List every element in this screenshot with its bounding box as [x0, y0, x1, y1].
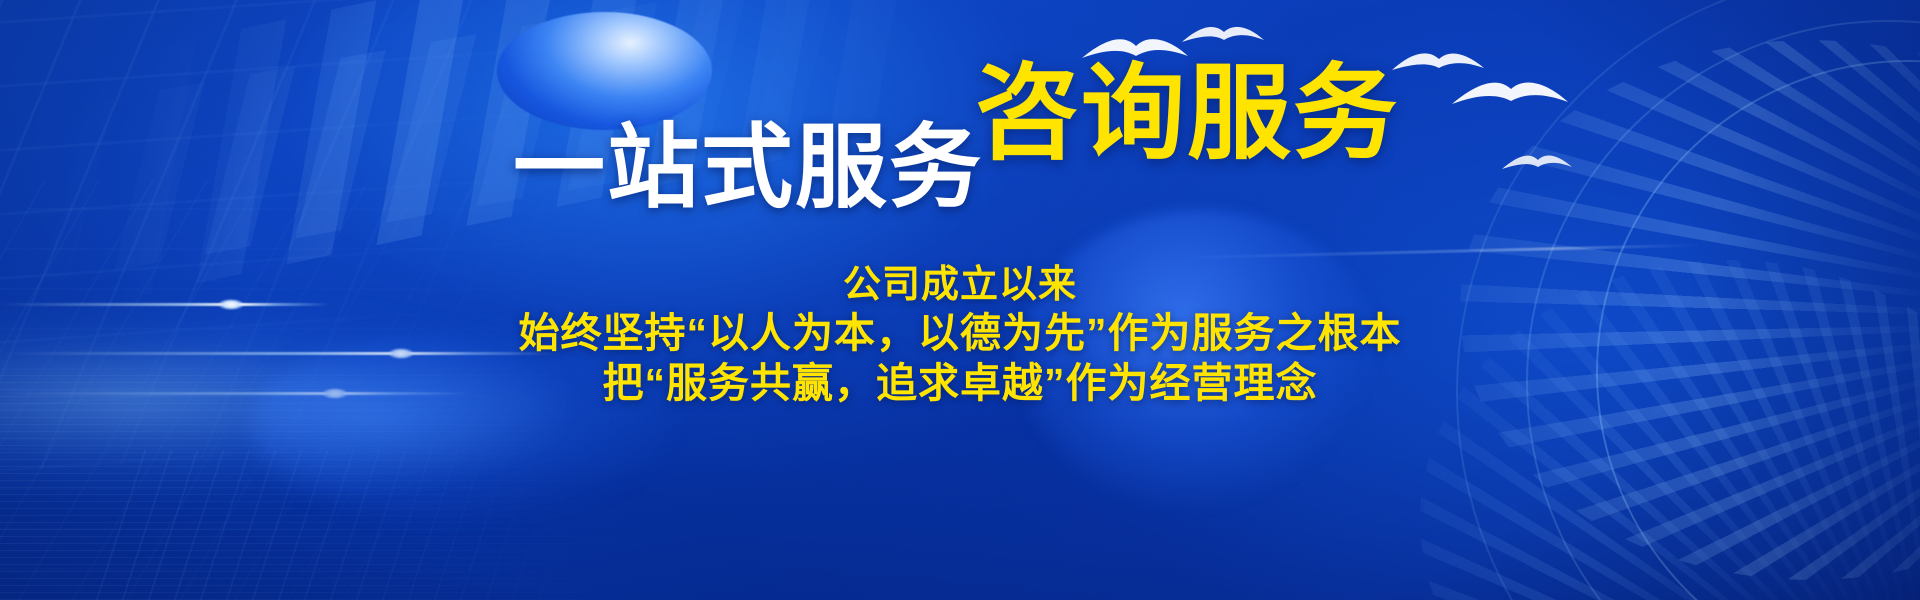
- headline-yellow-text: 咨询服务: [975, 62, 1399, 166]
- light-streak-icon: [1180, 244, 1700, 260]
- vertical-line-pattern-icon: [96, 450, 665, 600]
- subtitle-block: 公司成立以来 始终坚持“以人为本，以德为先”作为服务之根本 把“服务共赢，追求卓…: [0, 262, 1920, 408]
- promo-banner: 一站式服务 咨询服务 公司成立以来 始终坚持“以人为本，以德为先”作为服务之根本…: [0, 0, 1920, 600]
- bird-icon: [1180, 20, 1266, 52]
- headline-white-text: 一站式服务: [513, 122, 983, 214]
- headline: 一站式服务 咨询服务: [0, 72, 1920, 176]
- subtitle-line-1: 公司成立以来: [0, 262, 1920, 308]
- subtitle-line-2: 始终坚持“以人为本，以德为先”作为服务之根本: [0, 308, 1920, 358]
- subtitle-line-3: 把“服务共赢，追求卓越”作为经营理念: [0, 358, 1920, 408]
